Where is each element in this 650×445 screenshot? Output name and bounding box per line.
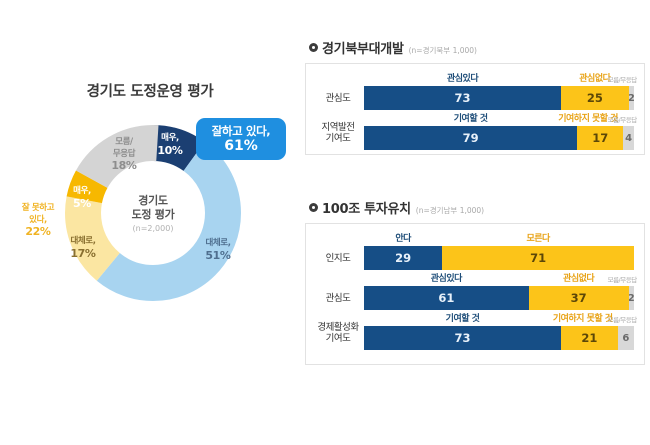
bar-charts-panel: 경기북부대개발 (n=경기북부 1,000) 관심도 관심있다 관심없다 모름/… [305,0,650,445]
stacked-bar: 73 21 6 [364,326,634,350]
donut-positive-callout: 잘하고 있다, 61% [196,118,286,160]
bar-header-positive: 기여할 것 [454,111,488,124]
bar-header-negative: 모른다 [526,231,549,244]
stacked-bar: 73 25 2 [364,86,634,110]
section-header-1: 100조 투자유치 (n=경기남부 1,000) [305,198,645,217]
donut-negative-group-label: 잘 못하고 있다, 22% [2,203,74,238]
section-sample-size-0: (n=경기북부 1,000) [409,45,477,56]
bar-row-label: 관심도 [312,93,364,110]
bar-row-label: 경제활성화 기여도 [312,322,364,350]
bar-headers: 관심있다 관심없다 모름/무응답 [364,71,634,84]
bar-header-negative: 기여하지 못할 것 [553,311,613,324]
bar-header-dontknow: 모름/무응답 [608,274,637,284]
bar-row-label: 인지도 [312,253,364,270]
bar-row-label: 지역발전 기여도 [312,122,364,150]
bar-header-positive: 안다 [395,231,411,244]
bar-header-dontknow: 모름/무응답 [608,74,637,84]
bar-segment-positive: 79 [364,126,577,150]
section-title-0: 경기북부대개발 [322,38,404,57]
bar-row-label-text: 인지도 [326,253,351,264]
bar-panel-1: 인지도 안다 모른다 29 71 [305,223,645,365]
bar-segment-positive: 29 [364,246,442,270]
bar-segment-dontknow: 6 [618,326,634,350]
bar-segment-positive: 73 [364,86,561,110]
bar-row-label: 관심도 [312,293,364,310]
bullet-icon [309,203,318,212]
bar-segment-dontknow: 2 [629,86,634,110]
bar-segment-negative: 37 [529,286,629,310]
section-header-0: 경기북부대개발 (n=경기북부 1,000) [305,38,645,57]
bar-segment-negative: 17 [577,126,623,150]
donut-negative-label-value: 22% [2,226,74,238]
bar-segment-negative: 25 [561,86,629,110]
bar-headers: 기여할 것 기여하지 못할 것 모름/무응답 [364,311,634,324]
stacked-bar: 79 17 4 [364,126,634,150]
bar-row: 관심도 관심있다 관심없다 모름/무응답 61 37 2 [312,270,634,310]
stacked-bar: 29 71 [364,246,634,270]
donut-negative-label-line1: 잘 못하고 [2,203,74,215]
bar-row: 지역발전 기여도 기여할 것 기여하지 못할 것 모름/무응답 79 17 4 [312,110,634,150]
bar-panel-0: 관심도 관심있다 관심없다 모름/무응답 73 25 2 [305,63,645,155]
bar-headers: 안다 모른다 [364,231,634,244]
bar-row: 관심도 관심있다 관심없다 모름/무응답 73 25 2 [312,70,634,110]
bar-row-label-line2: 기여도 [326,133,351,144]
stacked-bar: 61 37 2 [364,286,634,310]
bar-area: 기여할 것 기여하지 못할 것 모름/무응답 73 21 6 [364,311,634,350]
section-gyeonggi-bukbu: 경기북부대개발 (n=경기북부 1,000) 관심도 관심있다 관심없다 모름/… [305,38,645,155]
bar-segment-dontknow: 4 [623,126,634,150]
section-sample-size-1: (n=경기남부 1,000) [416,205,484,216]
bar-segment-dontknow: 2 [629,286,634,310]
bar-header-positive: 기여할 것 [446,311,480,324]
bar-segment-positive: 73 [364,326,561,350]
bar-area: 기여할 것 기여하지 못할 것 모름/무응답 79 17 4 [364,111,634,150]
bar-header-negative: 관심없다 [579,71,610,84]
bar-header-positive: 관심있다 [447,71,478,84]
bar-header-negative: 관심없다 [563,271,594,284]
section-title-1: 100조 투자유치 [322,198,411,217]
donut-chart-panel: 경기도 도정운영 평가 경기도 도정 평가 (n=2,000) 매우, 10% [0,0,300,445]
bar-area: 관심있다 관심없다 모름/무응답 61 37 2 [364,271,634,310]
bar-area: 관심있다 관심없다 모름/무응답 73 25 2 [364,71,634,110]
bar-row-label-line1: 지역발전 [322,122,355,133]
bar-row-label-line1: 경제활성화 [317,322,358,333]
bar-header-dontknow: 모름/무응답 [608,314,637,324]
bar-segment-positive: 61 [364,286,529,310]
bar-area: 안다 모른다 29 71 [364,231,634,270]
infographic-page: 경기도 도정운영 평가 경기도 도정 평가 (n=2,000) 매우, 10% [0,0,650,445]
bar-segment-negative: 71 [442,246,634,270]
bar-header-positive: 관심있다 [431,271,462,284]
callout-value: 61% [200,139,282,153]
bar-header-dontknow: 모름/무응답 [608,114,637,124]
bar-row: 경제활성화 기여도 기여할 것 기여하지 못할 것 모름/무응답 73 21 6 [312,310,634,350]
callout-label: 잘하고 있다, [200,124,282,138]
bar-headers: 관심있다 관심없다 모름/무응답 [364,271,634,284]
bar-row-label-line2: 기여도 [326,333,351,344]
section-100jo-investment: 100조 투자유치 (n=경기남부 1,000) 인지도 안다 모른다 29 [305,198,645,365]
bar-row-label-text: 관심도 [326,293,351,304]
bar-headers: 기여할 것 기여하지 못할 것 모름/무응답 [364,111,634,124]
donut-chart-title: 경기도 도정운영 평가 [0,80,300,101]
bar-row: 인지도 안다 모른다 29 71 [312,230,634,270]
bar-row-label-text: 관심도 [326,93,351,104]
bullet-icon [309,43,318,52]
bar-segment-negative: 21 [561,326,618,350]
